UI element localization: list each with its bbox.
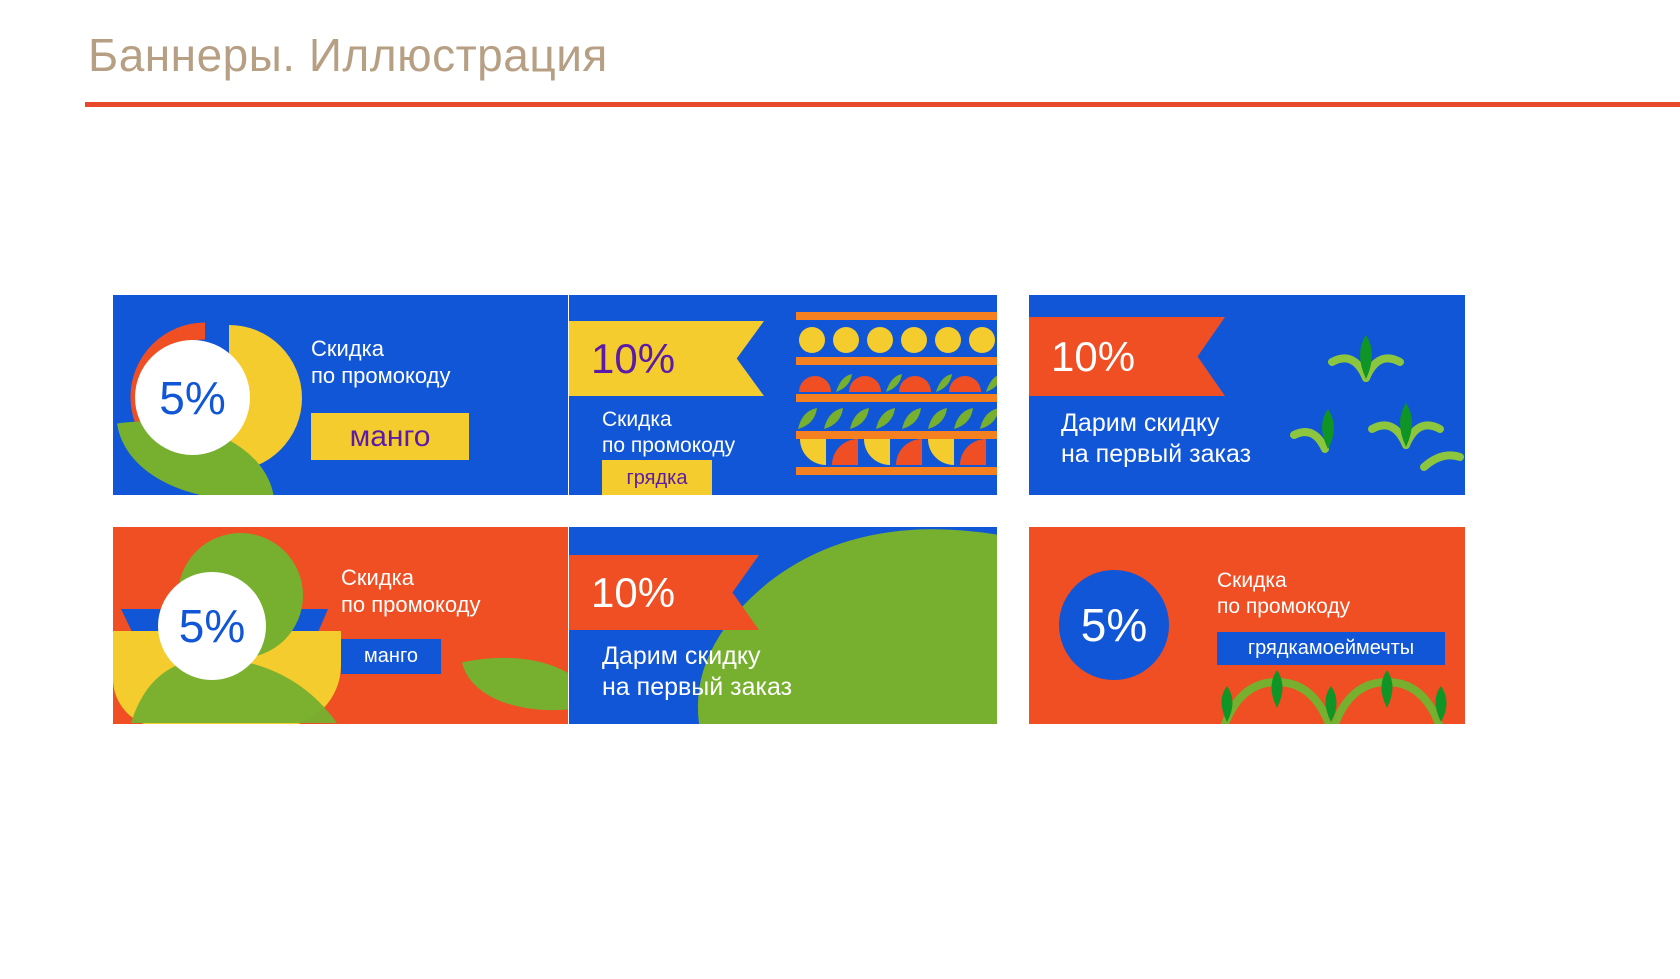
- discount-value: 10%: [569, 335, 675, 383]
- discount-value: 5%: [1081, 598, 1147, 652]
- promo-code-chip-1[interactable]: манго: [311, 413, 469, 460]
- promo-code-text: манго: [364, 645, 418, 668]
- banner-headline-5: Дарим скидку на первый заказ: [602, 641, 792, 702]
- discount-ribbon-5[interactable]: 10%: [569, 555, 759, 630]
- discount-value: 5%: [179, 599, 245, 653]
- banner-card-6[interactable]: 5% Скидка по промокоду грядкамоеймечты: [1029, 527, 1465, 724]
- banner-headline-6: Скидка по промокоду: [1217, 568, 1350, 619]
- produce-pattern-decor: [796, 312, 997, 479]
- discount-badge-4[interactable]: 5%: [158, 572, 266, 680]
- sprouts-decor: [1284, 317, 1465, 477]
- promo-code-text: грядкамоеймечты: [1248, 637, 1414, 660]
- discount-value: 10%: [1029, 333, 1135, 381]
- page-title: Баннеры. Иллюстрация: [88, 28, 608, 82]
- discount-value: 5%: [159, 371, 225, 425]
- banner-card-1[interactable]: 5% Скидка по промокоду манго: [113, 295, 568, 495]
- banner-headline-3: Дарим скидку на первый заказ: [1061, 408, 1251, 469]
- promo-code-chip-2[interactable]: грядка: [602, 460, 712, 495]
- promo-code-text: манго: [350, 420, 431, 454]
- discount-badge-6[interactable]: 5%: [1059, 570, 1169, 680]
- title-divider: [85, 102, 1680, 107]
- discount-ribbon-3[interactable]: 10%: [1029, 317, 1225, 396]
- promo-code-text: грядка: [626, 467, 687, 490]
- banner-card-4[interactable]: 5% Скидка по промокоду манго: [113, 527, 568, 724]
- banner-headline-1: Скидка по промокоду: [311, 336, 450, 390]
- banner-headline-2: Скидка по промокоду: [602, 407, 735, 458]
- banner-card-2[interactable]: 10% Скидка по промокоду грядка: [569, 295, 997, 495]
- banner-card-5[interactable]: 10% Дарим скидку на первый заказ: [569, 527, 997, 724]
- discount-badge-1[interactable]: 5%: [135, 340, 250, 455]
- slide-canvas: Баннеры. Иллюстрация 5% Скидка по промок…: [0, 0, 1680, 979]
- promo-code-chip-6[interactable]: грядкамоеймечты: [1217, 632, 1445, 665]
- discount-ribbon-2[interactable]: 10%: [569, 321, 764, 396]
- promo-code-chip-4[interactable]: манго: [341, 639, 441, 674]
- discount-value: 10%: [569, 569, 675, 617]
- sprout-row-decor: [1219, 662, 1465, 724]
- banner-headline-4: Скидка по промокоду: [341, 565, 480, 619]
- banner-card-3[interactable]: 10% Дарим скидку на первый заказ: [1029, 295, 1465, 495]
- green-leaf-decor: [462, 637, 568, 724]
